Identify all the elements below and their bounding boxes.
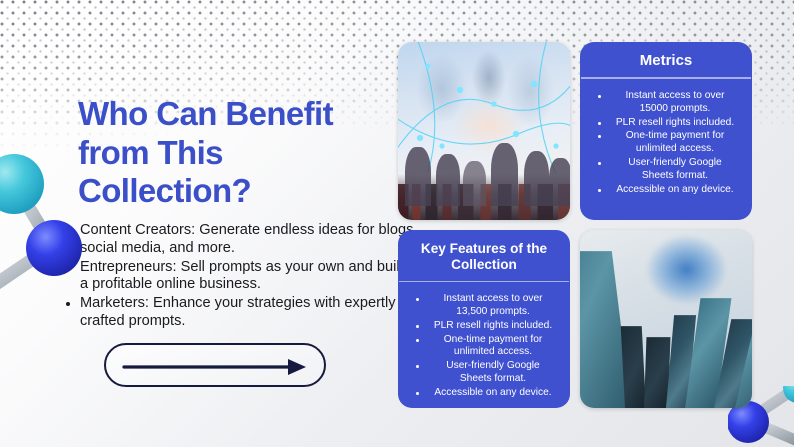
list-item: One-time payment for unlimited access. <box>592 130 740 156</box>
list-item: Instant access to over 15000 prompts. <box>592 90 740 116</box>
next-arrow-button[interactable] <box>104 343 326 387</box>
list-item: Accessible on any device. <box>592 184 740 197</box>
card-key-features-list: Instant access to over 13,500 prompts. P… <box>398 282 570 408</box>
list-item: Content Creators: Generate endless ideas… <box>78 222 418 258</box>
list-item: Accessible on any device. <box>410 387 558 400</box>
slide-canvas: Who Can Benefit from This Collection? Co… <box>0 0 794 447</box>
image-business-network <box>398 42 570 220</box>
list-item: PLR resell rights included. <box>592 117 740 130</box>
image-skyscrapers <box>580 230 752 408</box>
list-item: PLR resell rights included. <box>410 320 558 333</box>
list-item: Marketers: Enhance your strategies with … <box>78 295 418 331</box>
card-metrics-list: Instant access to over 15000 prompts. PL… <box>580 79 752 206</box>
card-metrics: Metrics Instant access to over 15000 pro… <box>580 42 752 220</box>
skyscrapers-photo <box>580 230 752 408</box>
page-title: Who Can Benefit from This Collection? <box>78 95 398 211</box>
arrow-right-icon <box>122 356 312 378</box>
list-item: Instant access to over 13,500 prompts. <box>410 293 558 319</box>
list-item: One-time payment for unlimited access. <box>410 334 558 360</box>
card-metrics-title: Metrics <box>580 42 752 77</box>
benefits-list: Content Creators: Generate endless ideas… <box>62 222 418 332</box>
list-item: User-friendly Google Sheets format. <box>592 157 740 183</box>
list-item: Entrepreneurs: Sell prompts as your own … <box>78 259 418 295</box>
list-item: User-friendly Google Sheets format. <box>410 360 558 386</box>
card-key-features-title: Key Features of the Collection <box>398 230 570 281</box>
business-network-photo <box>398 42 570 220</box>
card-key-features: Key Features of the Collection Instant a… <box>398 230 570 408</box>
